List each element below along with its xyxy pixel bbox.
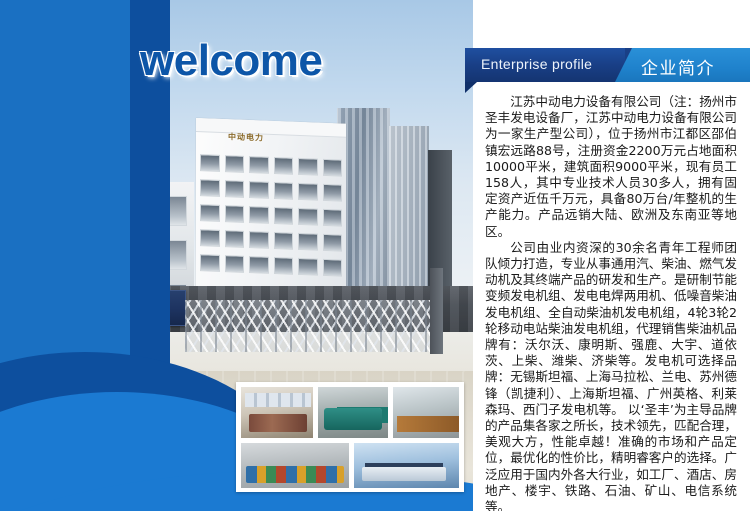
window-row (200, 254, 342, 276)
ribbon-english-title: Enterprise profile (481, 56, 592, 72)
profile-panel: Enterprise profile 企业简介 江苏中动电力设备有限公司（注：扬… (473, 0, 750, 511)
window-row (200, 229, 342, 251)
section-header-ribbon: Enterprise profile 企业简介 (465, 48, 750, 82)
conference-room-photo (353, 442, 460, 489)
ribbon-chinese-title: 企业简介 (641, 54, 715, 79)
welcome-title: welcome (140, 36, 322, 86)
gate-post (430, 268, 443, 354)
office-meeting-photo (240, 386, 314, 439)
photo-collage (236, 382, 464, 492)
main-office-building: 中动电力 (196, 118, 346, 314)
hero-image-area: 中动电力 江苏中动电力设备有限公司 Zhongdong Power Equipm… (0, 0, 474, 511)
retractable-factory-gate (185, 300, 435, 352)
generator-warehouse-photo (240, 442, 350, 489)
window-row (200, 204, 342, 226)
generator-workshop-photo (317, 386, 389, 439)
profile-paragraph-2: 公司由业内资深的30余名青年工程师团队倾力打造，专业从事通用汽、柴油、燃气发动机… (485, 240, 737, 511)
profile-panel-inner: Enterprise profile 企业简介 江苏中动电力设备有限公司（注：扬… (473, 0, 750, 511)
window-row (200, 154, 342, 176)
ribbon-fold-tail (465, 82, 477, 93)
collage-row-bottom (240, 442, 460, 489)
promo-banner-page: 中动电力 江苏中动电力设备有限公司 Zhongdong Power Equipm… (0, 0, 750, 511)
window-row (200, 179, 342, 201)
office-reception-photo (392, 386, 460, 439)
building-sign-label: 中动电力 (228, 131, 264, 143)
company-profile-text: 江苏中动电力设备有限公司（注：扬州市圣丰发电设备厂，江苏中动电力设备有限公司为一… (485, 94, 737, 511)
profile-paragraph-1: 江苏中动电力设备有限公司（注：扬州市圣丰发电设备厂，江苏中动电力设备有限公司为一… (485, 94, 737, 240)
collage-row-top (240, 386, 460, 439)
